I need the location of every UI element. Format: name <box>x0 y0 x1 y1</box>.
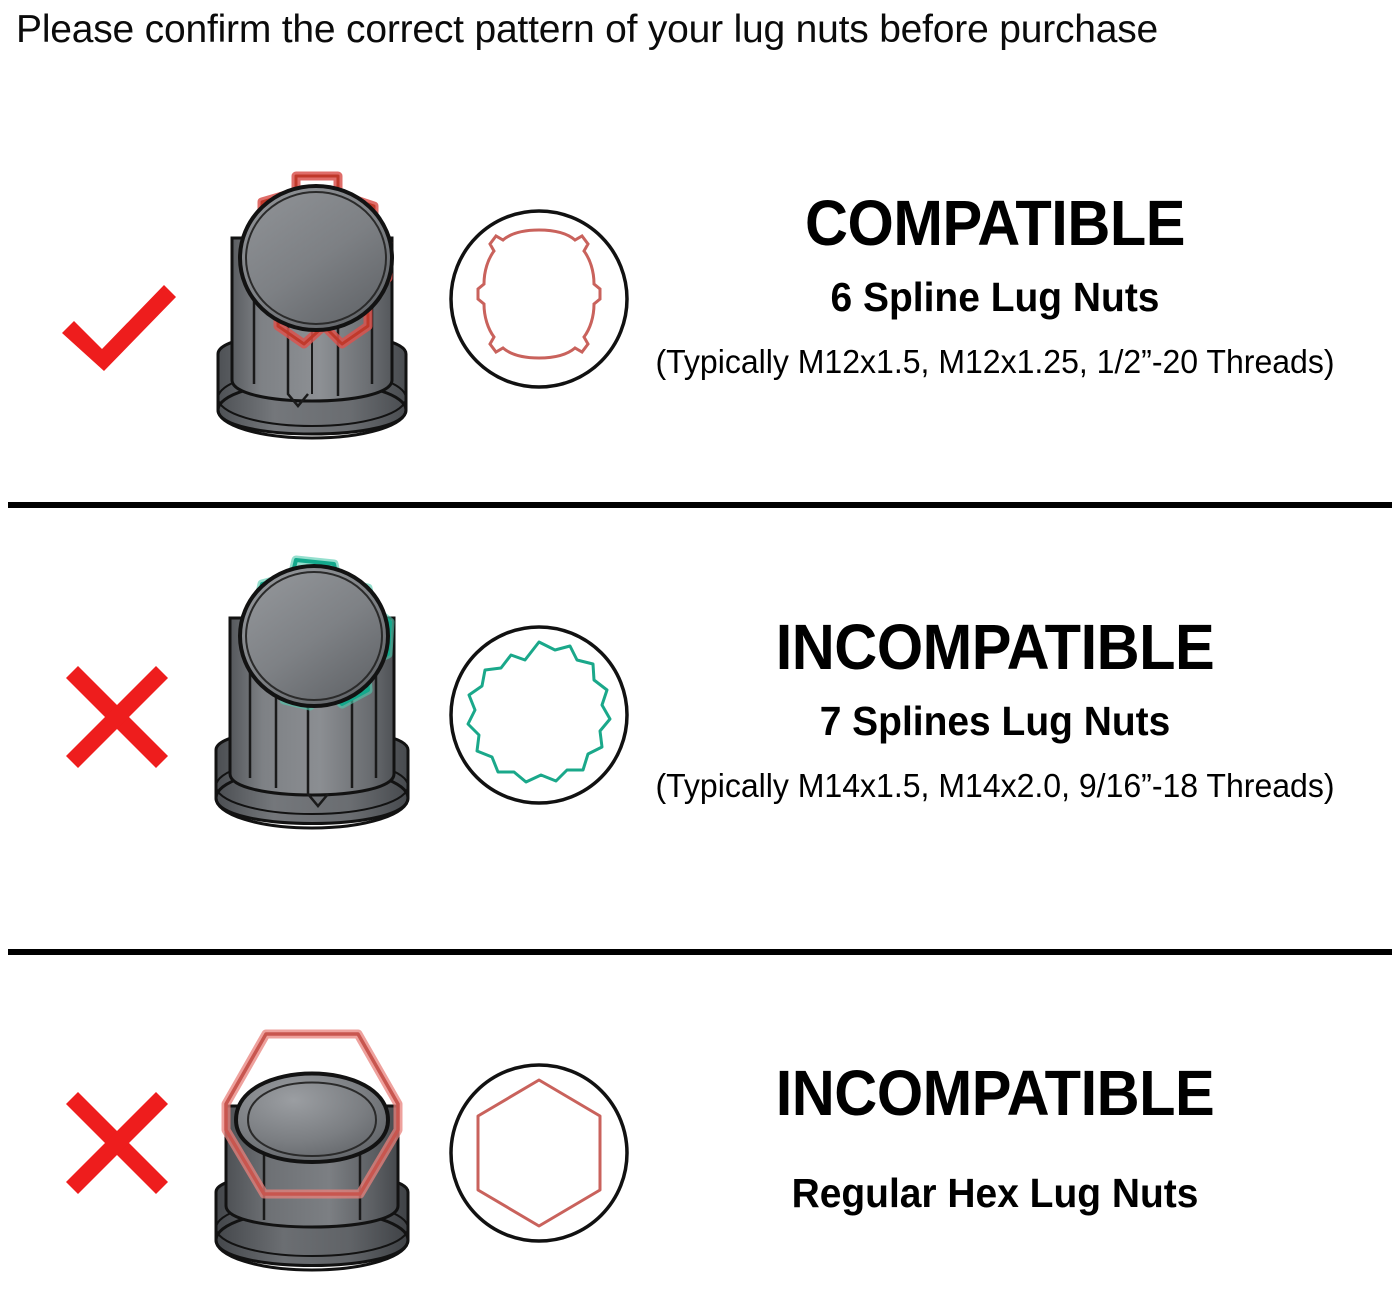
x-icon <box>56 1086 181 1206</box>
seven-spline-lug-nut-illustration <box>192 544 432 844</box>
section-divider <box>8 502 1392 508</box>
status-badge: INCOMPATIBLE <box>628 612 1363 682</box>
thread-spec-note: (Typically M12x1.5, M12x1.25, 1/2”-20 Th… <box>612 340 1378 384</box>
status-badge: INCOMPATIBLE <box>628 1058 1363 1128</box>
row-text-block-seven-spline: INCOMPATIBLE 7 Splines Lug Nuts (Typical… <box>600 612 1390 808</box>
nut-type-label: Regular Hex Lug Nuts <box>620 1168 1371 1218</box>
hex-lug-nut-illustration <box>192 1010 432 1310</box>
nut-type-label: 6 Spline Lug Nuts <box>620 272 1371 322</box>
status-badge: COMPATIBLE <box>628 188 1363 258</box>
compatibility-row-hex: INCOMPATIBLE Regular Hex Lug Nuts <box>0 958 1400 1264</box>
row-text-block-six-spline: COMPATIBLE 6 Spline Lug Nuts (Typically … <box>600 188 1390 384</box>
compatibility-row-six-spline: COMPATIBLE 6 Spline Lug Nuts (Typically … <box>0 70 1400 500</box>
row-text-block-hex: INCOMPATIBLE Regular Hex Lug Nuts <box>600 1058 1390 1218</box>
thread-spec-note: (Typically M14x1.5, M14x2.0, 9/16”-18 Th… <box>612 764 1378 808</box>
page-title: Please confirm the correct pattern of yo… <box>16 2 1386 58</box>
check-icon <box>56 267 181 387</box>
nut-type-label: 7 Splines Lug Nuts <box>620 696 1371 746</box>
compatibility-row-seven-spline: INCOMPATIBLE 7 Splines Lug Nuts (Typical… <box>0 512 1400 946</box>
x-icon <box>56 660 181 780</box>
section-divider <box>8 949 1392 955</box>
six-spline-lug-nut-illustration <box>192 158 432 458</box>
